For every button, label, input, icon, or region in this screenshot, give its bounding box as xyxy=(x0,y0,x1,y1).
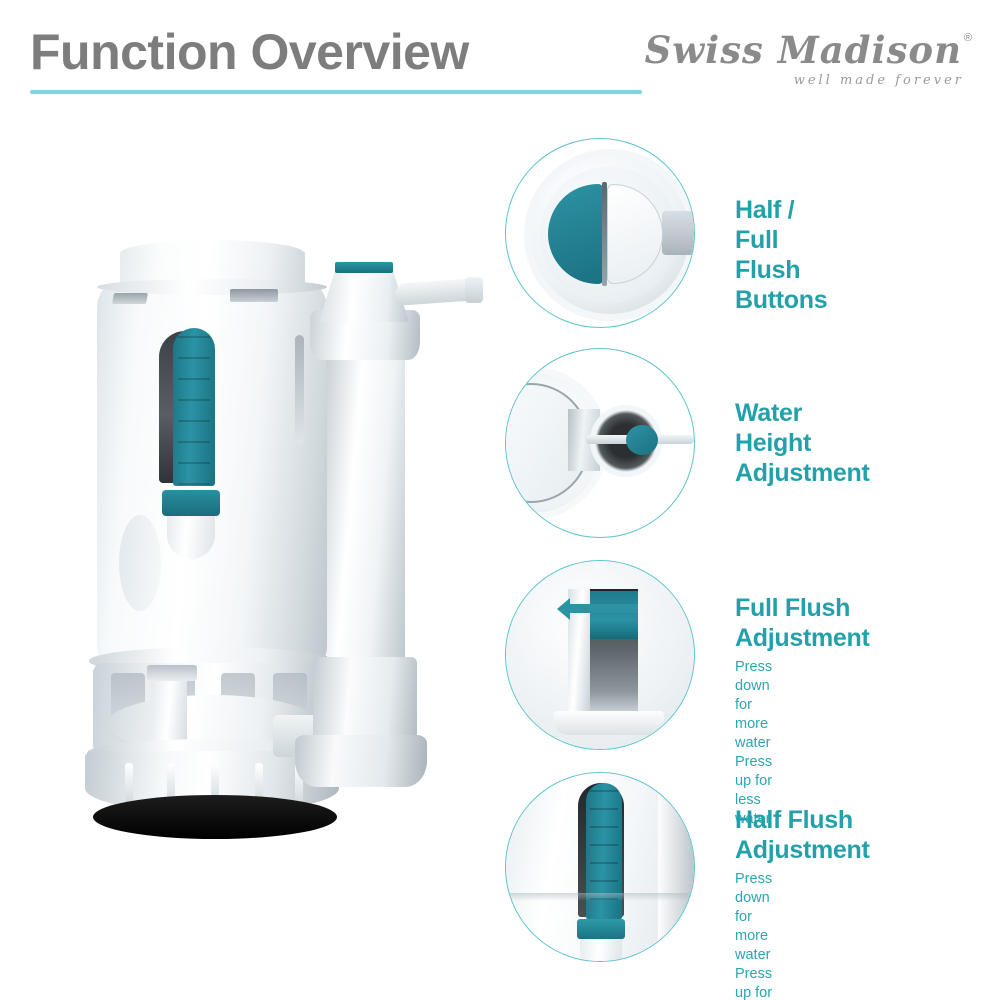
scale-tick xyxy=(590,808,618,819)
fill-valve-base xyxy=(295,735,427,787)
housing-seam xyxy=(506,893,694,901)
scale-tick xyxy=(178,399,210,412)
scale-tick xyxy=(590,826,618,837)
scale-tick xyxy=(178,357,210,370)
scale-tick xyxy=(178,441,210,454)
side-groove xyxy=(295,335,304,445)
body-highlight xyxy=(119,515,161,611)
scale-tick xyxy=(178,462,210,475)
vent-slot-left xyxy=(112,293,148,304)
product-illustration xyxy=(55,215,475,835)
full-flush-slider[interactable] xyxy=(586,591,638,639)
callout-art-water-height-knob xyxy=(506,349,694,537)
page-title: Function Overview xyxy=(30,22,469,82)
half-flush-scale xyxy=(173,328,215,486)
brand-tagline: well made forever xyxy=(794,73,964,88)
page-header: Function Overview Swiss Madison ® well m… xyxy=(0,0,1000,110)
scale-tick xyxy=(178,378,210,391)
callout-art-dual-flush-button-plate xyxy=(506,139,694,327)
callout-art-half-flush-slider xyxy=(506,773,694,961)
brand-logo: Swiss Madison ® well made forever xyxy=(672,26,972,96)
callout-circle-4 xyxy=(505,772,695,962)
function-overview-page: Function Overview Swiss Madison ® well m… xyxy=(0,0,1000,1000)
rubber-gasket xyxy=(93,795,337,839)
half-flush-slider-handle xyxy=(162,490,220,516)
fill-valve-tube xyxy=(327,353,405,673)
scale-tick xyxy=(590,880,618,891)
callout-4-subtext: Press down for more water Press up for l… xyxy=(735,870,772,1000)
direction-arrow-icon xyxy=(568,604,638,613)
callout-circle-3 xyxy=(505,560,695,750)
housing-ledge xyxy=(554,711,664,735)
housing-edge-shadow xyxy=(658,773,694,961)
fill-valve-cap xyxy=(335,262,393,273)
registered-trademark-icon: ® xyxy=(964,32,972,44)
brand-name: Swiss Madison xyxy=(645,28,962,72)
scale-tick xyxy=(590,790,618,801)
scale-tick xyxy=(590,862,618,873)
scale-tick xyxy=(178,420,210,433)
scale-tick xyxy=(178,336,210,349)
vent-slot-right xyxy=(230,289,278,302)
callout-circle-1 xyxy=(505,138,695,328)
half-flush-slider-handle[interactable] xyxy=(577,919,625,939)
callout-circle-2 xyxy=(505,348,695,538)
title-underline-rule xyxy=(30,90,642,94)
callout-art-full-flush-slot xyxy=(506,561,694,749)
callout-3-heading: Full Flush Adjustment xyxy=(735,593,870,653)
water-height-adjustment-knob[interactable] xyxy=(626,425,658,455)
scale-tick xyxy=(590,844,618,855)
fill-valve-arm-tip xyxy=(465,277,483,303)
callout-4-heading: Half Flush Adjustment xyxy=(735,805,870,865)
cage-latch-tab xyxy=(147,665,197,681)
callout-2-heading: Water Height Adjustment xyxy=(735,398,870,488)
callout-3-subtext: Press down for more water Press up for l… xyxy=(735,658,772,829)
button-plate-mount-nub xyxy=(662,211,694,255)
callout-1-heading: Half / Full Flush Buttons xyxy=(735,195,827,315)
button-divider xyxy=(602,182,607,286)
